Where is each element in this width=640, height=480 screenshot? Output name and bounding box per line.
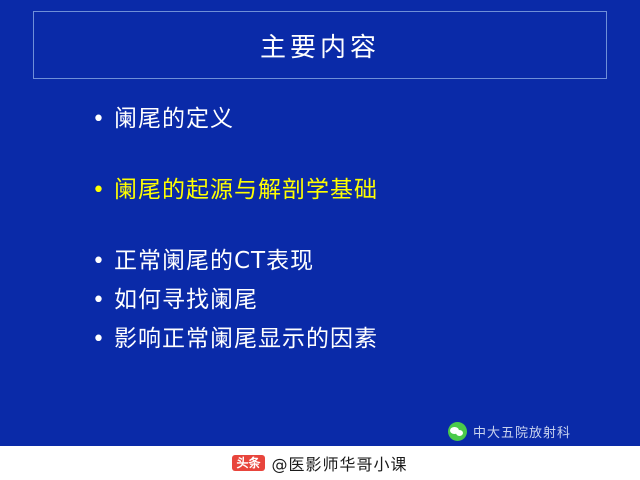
- bullet-marker-icon: •: [92, 109, 114, 131]
- bullet-marker-icon: •: [92, 251, 114, 273]
- bullet-marker-icon: •: [92, 180, 114, 202]
- wechat-icon: [448, 422, 467, 441]
- list-item: • 阑尾的起源与解剖学基础: [92, 179, 592, 202]
- list-item-label: 阑尾的定义: [114, 108, 234, 131]
- list-item-label: 阑尾的起源与解剖学基础: [114, 179, 378, 202]
- list-item: • 如何寻找阑尾: [92, 289, 592, 312]
- watermark-label: 中大五院放射科: [473, 422, 571, 441]
- list-item: • 影响正常阑尾显示的因素: [92, 328, 592, 351]
- slide-title-box: 主要内容: [33, 11, 607, 79]
- footer-watermark-bar: 头条 @医影师华哥小课: [0, 446, 640, 480]
- list-item-label: 影响正常阑尾显示的因素: [114, 328, 378, 351]
- toutiao-logo-icon: 头条: [232, 455, 264, 471]
- list-item-label: 如何寻找阑尾: [114, 289, 258, 312]
- bullet-marker-icon: •: [92, 290, 114, 312]
- list-item: • 正常阑尾的CT表现: [92, 250, 592, 273]
- page-title: 主要内容: [34, 12, 606, 78]
- bullet-list: • 阑尾的定义 • 阑尾的起源与解剖学基础 • 正常阑尾的CT表现 • 如何寻找…: [92, 100, 592, 351]
- list-item-label: 正常阑尾的CT表现: [114, 250, 314, 273]
- bullet-marker-icon: •: [92, 329, 114, 351]
- footer-account-label: @医影师华哥小课: [272, 451, 408, 475]
- presentation-slide: 主要内容 • 阑尾的定义 • 阑尾的起源与解剖学基础 • 正常阑尾的CT表现 •…: [0, 0, 640, 480]
- list-item: • 阑尾的定义: [92, 108, 592, 131]
- watermark: 中大五院放射科: [448, 422, 571, 441]
- footer-inner: 头条 @医影师华哥小课: [232, 451, 407, 475]
